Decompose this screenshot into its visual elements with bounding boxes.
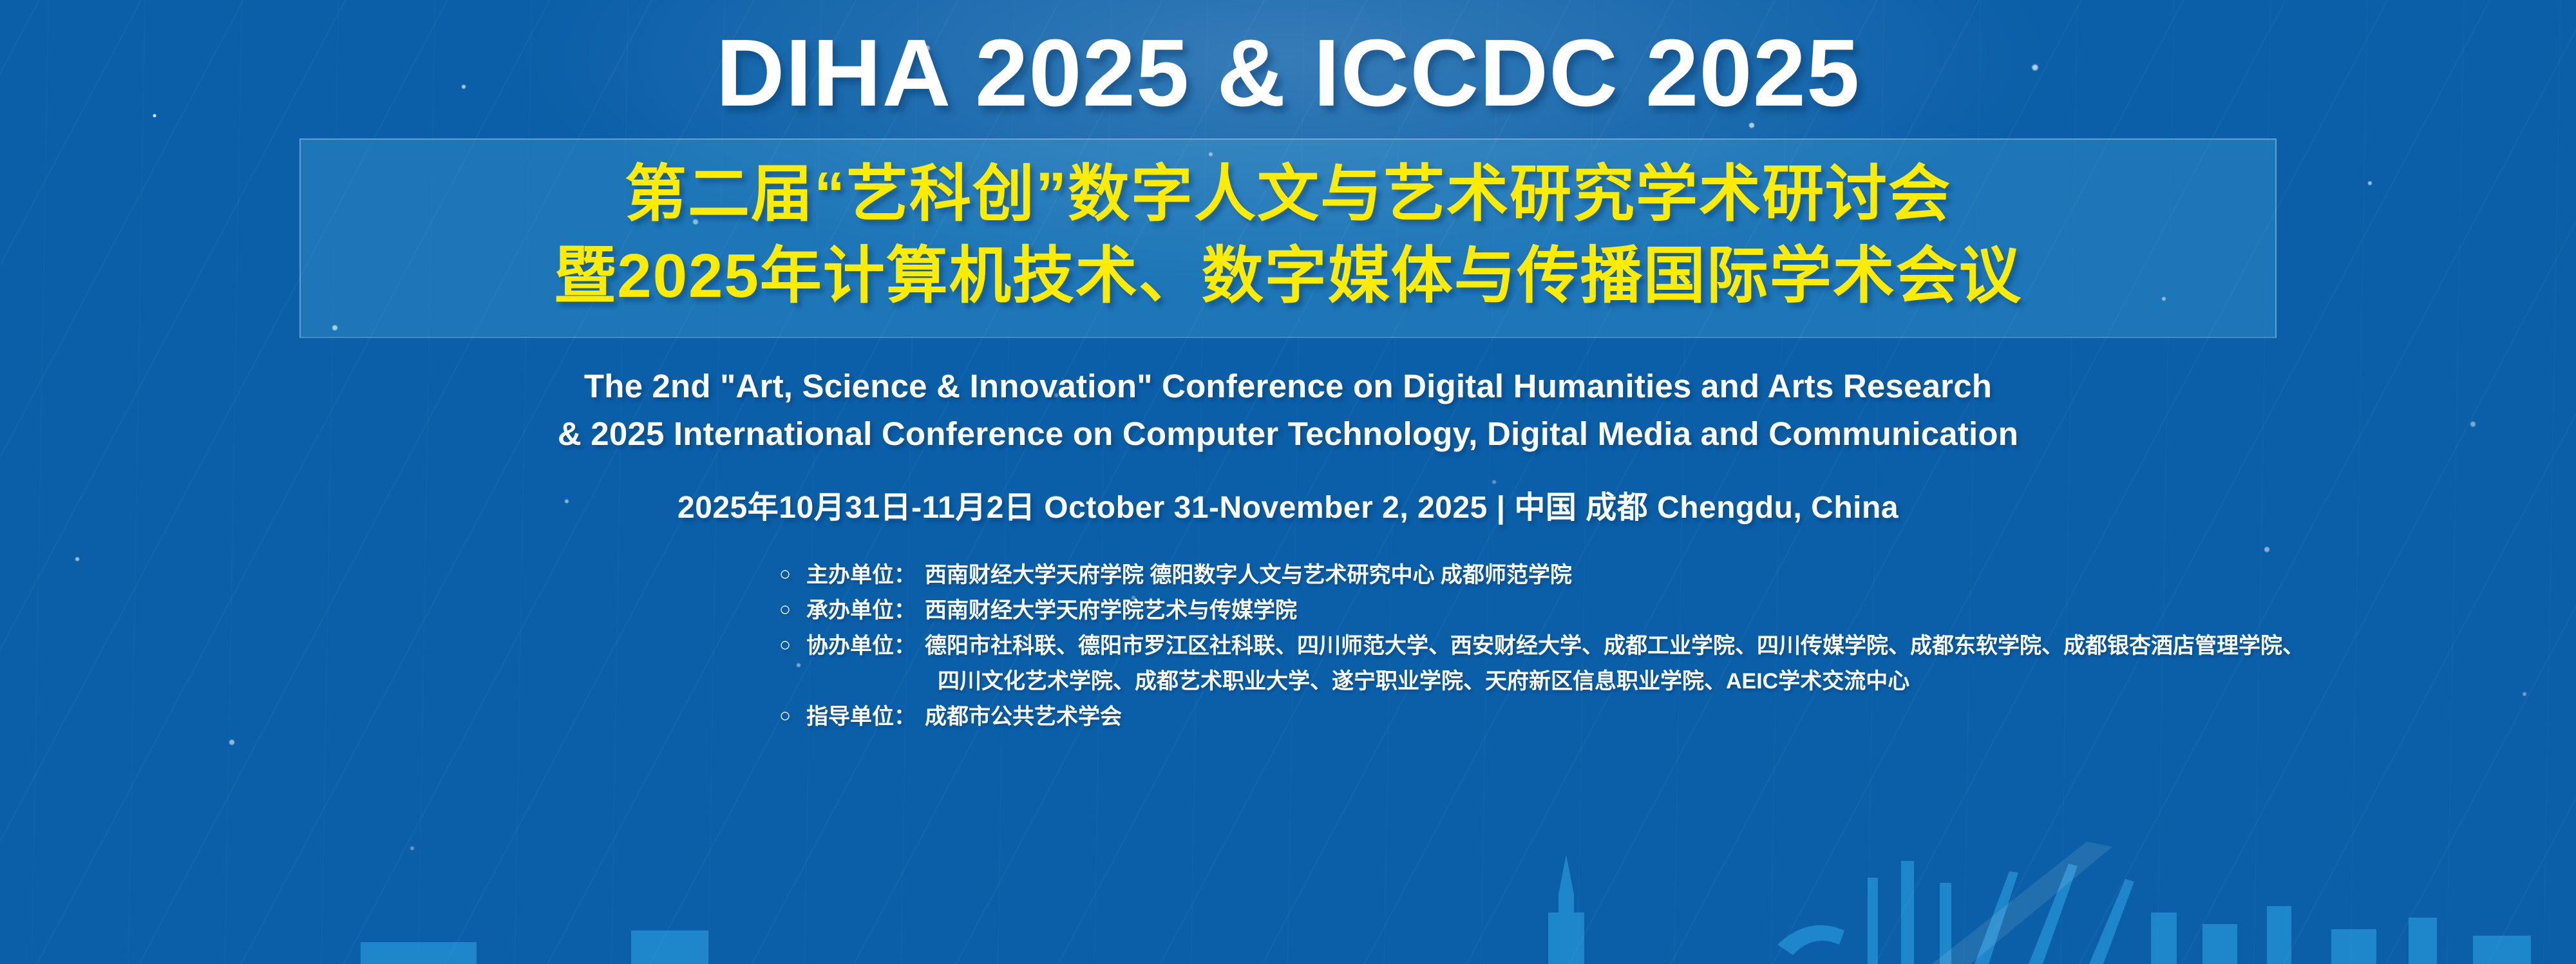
organizer-row-host: ○ 主办单位： 西南财经大学天府学院 德阳数字人文与艺术研究中心 成都师范学院: [779, 558, 2273, 593]
organizer-row-advisor: ○ 指导单位： 成都市公共艺术学会: [779, 699, 2273, 735]
organizer-value-continuation: 四川文化艺术学院、成都艺术职业大学、遂宁职业学院、天府新区信息职业学院、AEIC…: [779, 664, 2273, 699]
organizer-list: ○ 主办单位： 西南财经大学天府学院 德阳数字人文与艺术研究中心 成都师范学院 …: [303, 558, 2273, 735]
circle-bullet-icon: ○: [779, 558, 806, 591]
organizer-value: 西南财经大学天府学院 德阳数字人文与艺术研究中心 成都师范学院: [925, 558, 1572, 593]
chinese-title-panel: 第二届“艺科创”数字人文与艺术研究学术研讨会 暨2025年计算机技术、数字媒体与…: [299, 138, 2277, 337]
organizer-label: 主办单位：: [806, 558, 916, 593]
organizer-value: 德阳市社科联、德阳市罗江区社科联、四川师范大学、西安财经大学、成都工业学院、四川…: [925, 628, 2304, 664]
english-subtitle-line-1: The 2nd "Art, Science & Innovation" Conf…: [558, 363, 2018, 410]
circle-bullet-icon: ○: [779, 593, 806, 627]
organizer-value: 西南财经大学天府学院艺术与传媒学院: [925, 593, 1297, 628]
page-title: DIHA 2025 & ICCDC 2025: [716, 23, 1861, 123]
circle-bullet-icon: ○: [779, 628, 806, 662]
english-subtitle: The 2nd "Art, Science & Innovation" Conf…: [558, 363, 2018, 458]
organizer-label: 指导单位：: [806, 699, 916, 735]
conference-banner: DIHA 2025 & ICCDC 2025 第二届“艺科创”数字人文与艺术研究…: [0, 0, 2576, 964]
chinese-title-line-2: 暨2025年计算机技术、数字媒体与传播国际学术会议: [301, 236, 2275, 317]
chinese-title-line-1: 第二届“艺科创”数字人文与艺术研究学术研讨会: [301, 154, 2275, 236]
organizer-value: 成都市公共艺术学会: [925, 699, 1122, 735]
organizer-row-undertaker: ○ 承办单位： 西南财经大学天府学院艺术与传媒学院: [779, 593, 2273, 628]
organizer-label: 承办单位：: [806, 593, 916, 628]
organizer-label: 协办单位：: [806, 628, 916, 664]
date-and-location: 2025年10月31日-11月2日 October 31-November 2,…: [677, 482, 1899, 527]
organizer-row-coorganizer: ○ 协办单位： 德阳市社科联、德阳市罗江区社科联、四川师范大学、西安财经大学、成…: [779, 628, 2273, 664]
banner-content: DIHA 2025 & ICCDC 2025 第二届“艺科创”数字人文与艺术研究…: [0, 0, 2576, 964]
circle-bullet-icon: ○: [779, 699, 806, 733]
english-subtitle-line-2: & 2025 International Conference on Compu…: [558, 410, 2018, 458]
